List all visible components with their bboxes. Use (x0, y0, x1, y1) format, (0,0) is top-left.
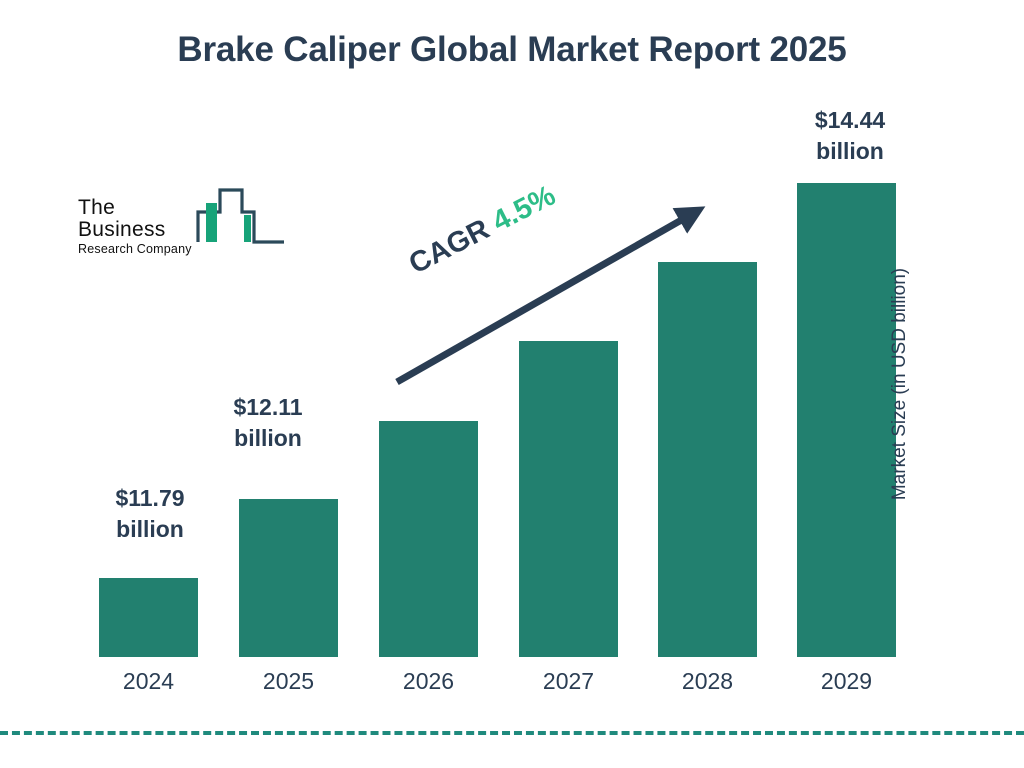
bar-2029 (797, 183, 896, 657)
value-label-2025: $12.11 billion (203, 392, 333, 454)
y-axis-title: Market Size (in USD billion) (889, 268, 911, 500)
x-tick-2027: 2027 (519, 668, 618, 695)
x-tick-2028: 2028 (658, 668, 757, 695)
bar-2024 (99, 578, 198, 657)
value-label-2029-unit: billion (785, 136, 915, 167)
bar-2025 (239, 499, 338, 657)
bar-2027 (519, 341, 618, 657)
bar-2026 (379, 421, 478, 657)
value-label-2025-unit: billion (203, 423, 333, 454)
x-tick-2029: 2029 (797, 668, 896, 695)
bar-2028 (658, 262, 757, 657)
value-label-2029: $14.44 billion (785, 105, 915, 167)
value-label-2025-amount: $12.11 (203, 392, 333, 423)
x-tick-2026: 2026 (379, 668, 478, 695)
value-label-2024-unit: billion (85, 514, 215, 545)
x-tick-2024: 2024 (99, 668, 198, 695)
value-label-2024-amount: $11.79 (85, 483, 215, 514)
x-tick-2025: 2025 (239, 668, 338, 695)
value-label-2024: $11.79 billion (85, 483, 215, 545)
footer-divider (0, 731, 1024, 735)
value-label-2029-amount: $14.44 (785, 105, 915, 136)
chart-canvas: Brake Caliper Global Market Report 2025 … (0, 0, 1024, 768)
